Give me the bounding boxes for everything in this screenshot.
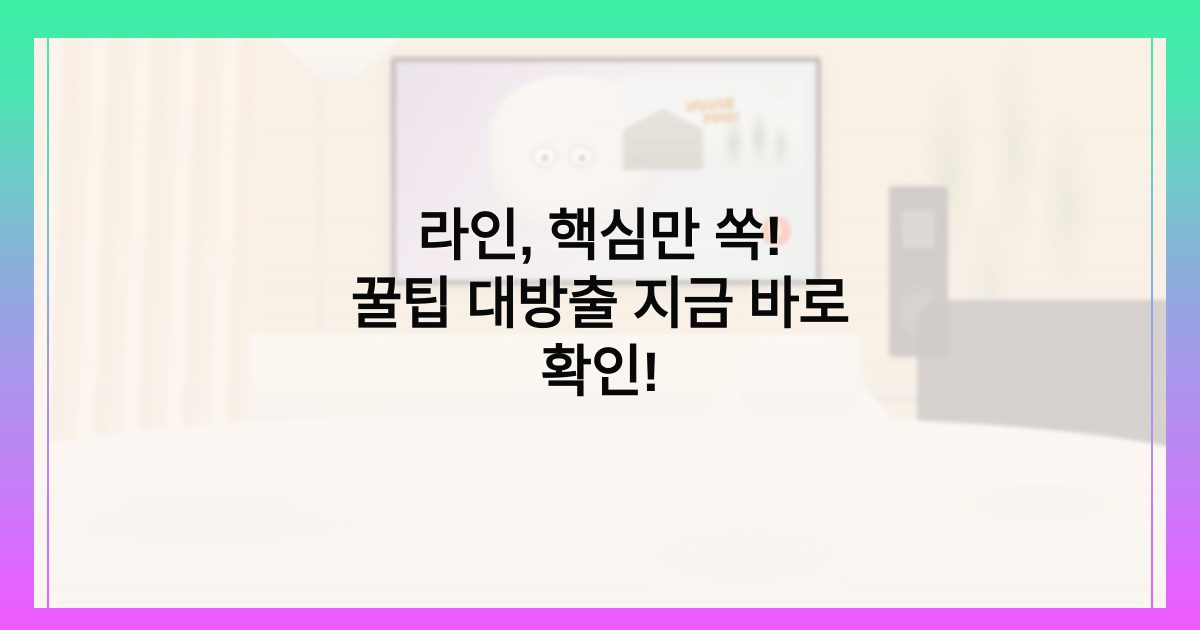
headline-line-2: 꿀팁 대방출 지금 바로	[60, 270, 1140, 338]
headline-line-3: 확인!	[60, 338, 1140, 406]
headline-line-1: 라인, 핵심만 쏙!	[60, 202, 1140, 270]
thumbnail-card: HOUSE FIRE! CN N 라인, 핵	[0, 0, 1200, 630]
headline: 라인, 핵심만 쏙! 꿀팁 대방출 지금 바로 확인!	[0, 202, 1200, 406]
